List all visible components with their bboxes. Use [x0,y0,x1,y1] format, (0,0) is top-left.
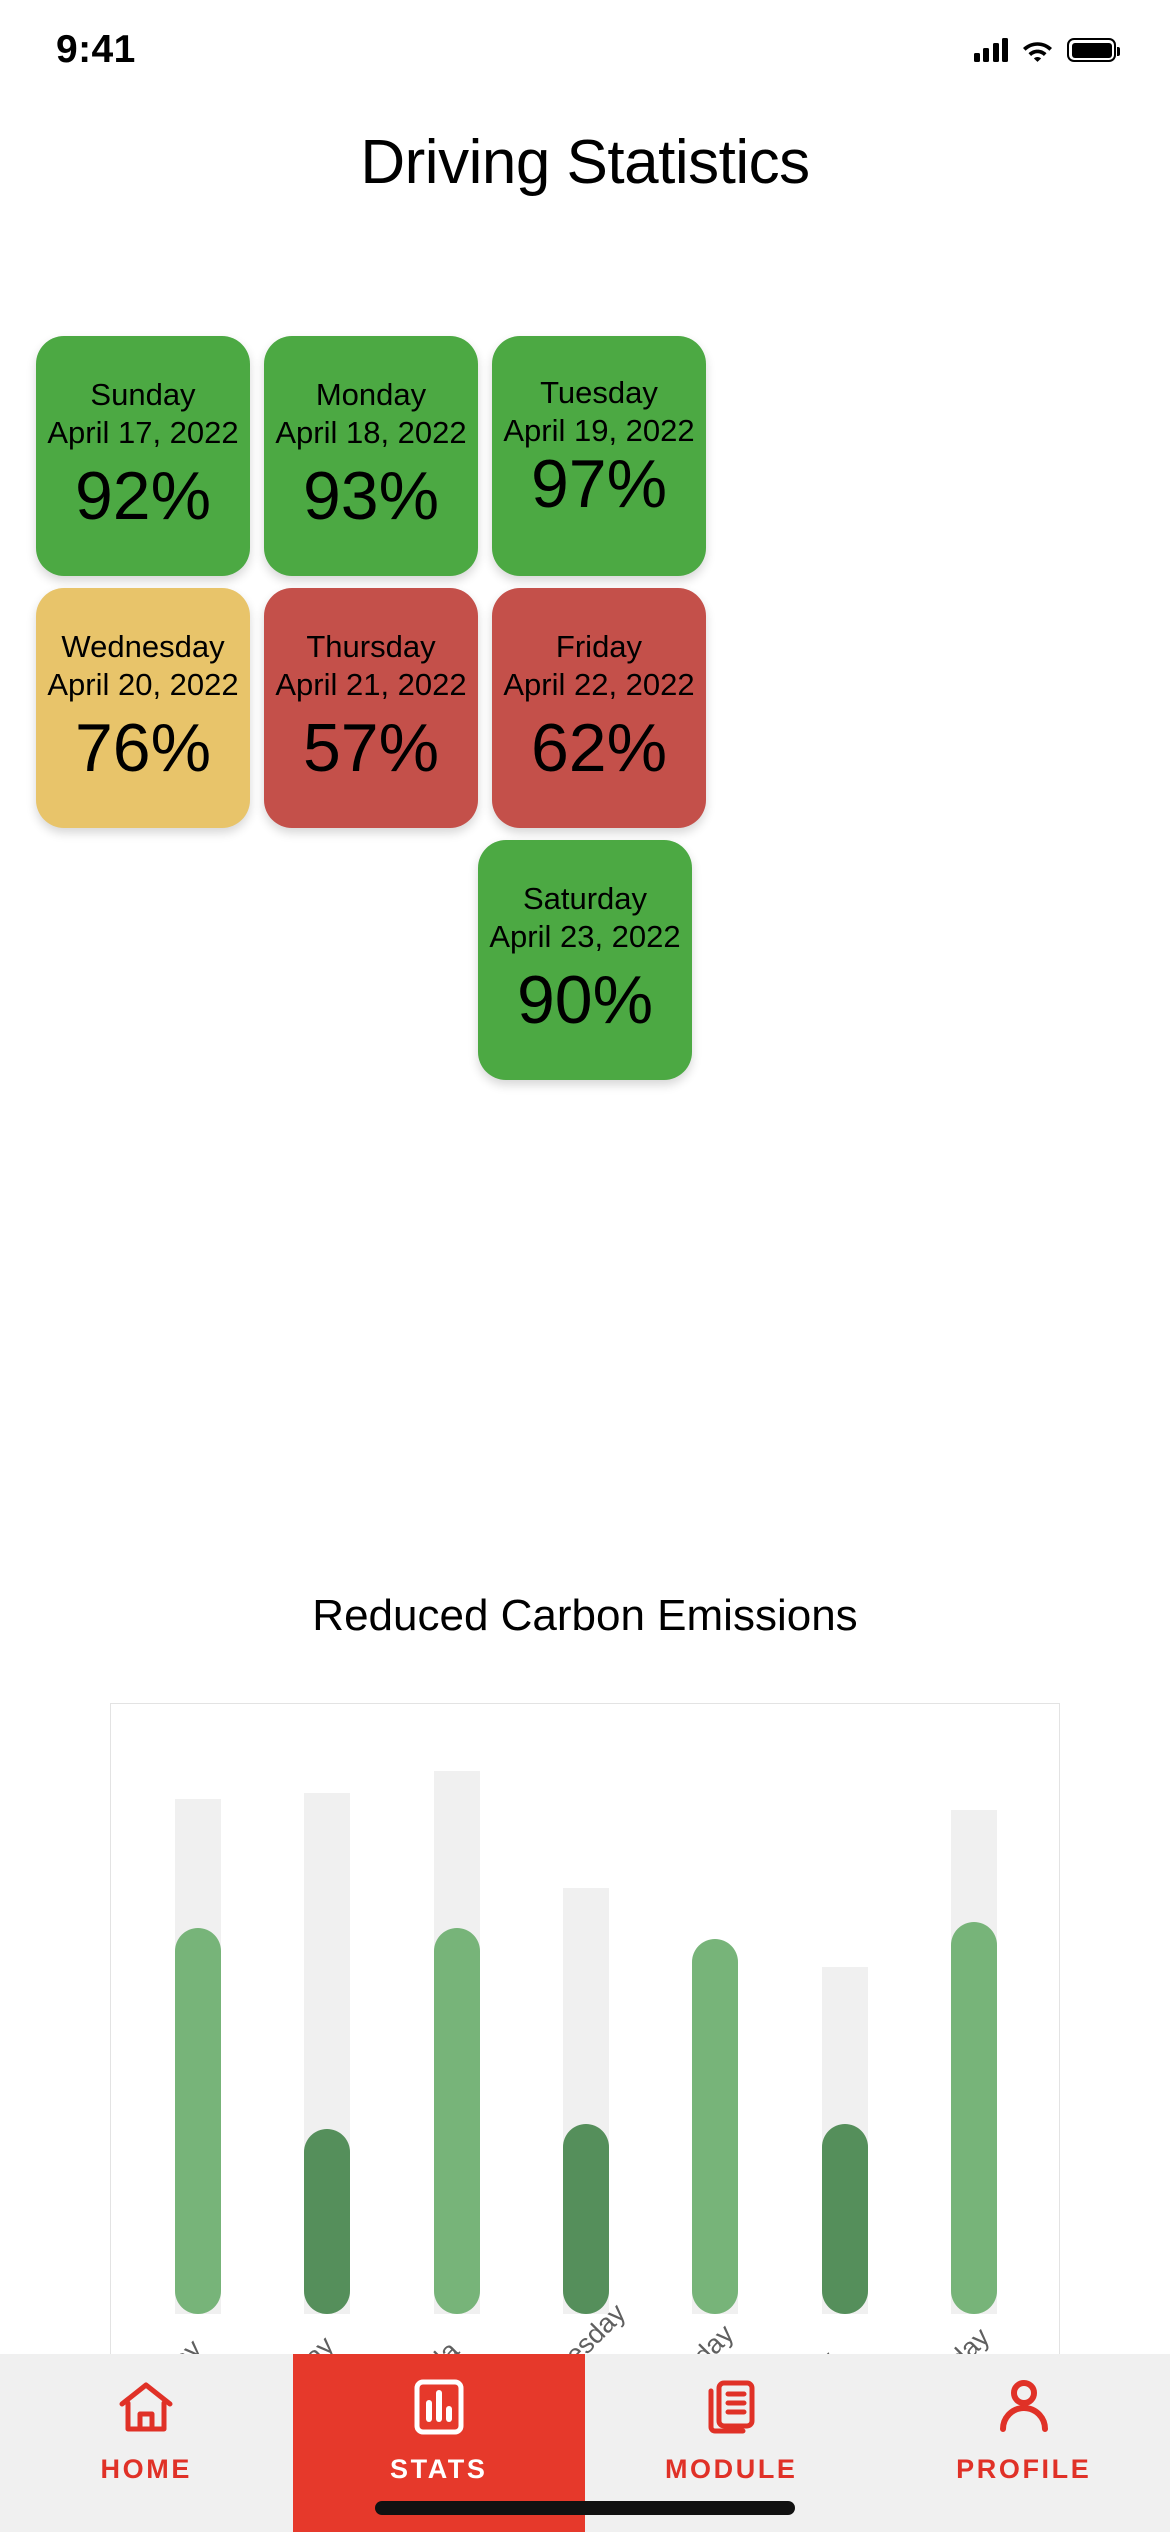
tab-module-label: MODULE [665,2454,798,2485]
day-card-percent: 93% [303,456,439,536]
day-card-date-label: April 20, 2022 [47,666,238,704]
status-bar: 9:41 [0,0,1170,100]
chart-bar-monday [299,1754,355,2314]
chart-bar-fill [951,1922,997,2314]
tab-profile[interactable]: PROFILE [878,2354,1170,2532]
chart-bar-fill [563,2124,609,2314]
document-icon [702,2378,760,2436]
day-card-monday[interactable]: Monday April 18, 2022 93% [264,336,478,576]
day-cards-row-2: Wednesday April 20, 2022 76% Thursday Ap… [36,588,1134,828]
day-card-percent: 76% [75,708,211,788]
person-icon [995,2378,1053,2436]
day-card-saturday[interactable]: Saturday April 23, 2022 90% [478,840,692,1080]
day-card-day-label: Wednesday [61,628,224,666]
day-card-day-label: Thursday [306,628,435,666]
tab-home-label: HOME [101,2454,192,2485]
status-indicators [974,38,1117,62]
chart-bar-thursday [687,1754,743,2314]
bar-chart-icon [410,2378,468,2436]
page-title: Driving Statistics [0,127,1170,198]
day-card-date-label: April 23, 2022 [489,918,680,956]
app-screen: 9:41 Driving Statistics Sunday April 17,… [0,0,1170,2532]
day-card-date-label: April 17, 2022 [47,414,238,452]
day-card-date-label: April 18, 2022 [275,414,466,452]
day-card-percent: 97% [531,444,667,524]
home-icon [117,2378,175,2436]
day-card-wednesday[interactable]: Wednesday April 20, 2022 76% [36,588,250,828]
day-card-day-label: Saturday [523,880,647,918]
day-card-day-label: Sunday [90,376,195,414]
status-time: 9:41 [56,28,136,72]
chart-bar-fill [692,1939,738,2314]
day-card-day-label: Friday [556,628,642,666]
day-card-percent: 62% [531,708,667,788]
chart-bar-saturday [946,1754,1002,2314]
day-cards-row-3: Saturday April 23, 2022 90% [36,840,1134,1080]
day-card-thursday[interactable]: Thursday April 21, 2022 57% [264,588,478,828]
chart-title: Reduced Carbon Emissions [0,1591,1170,1641]
chart-bar-fill [434,1928,480,2314]
day-card-date-label: April 21, 2022 [275,666,466,704]
day-card-friday[interactable]: Friday April 22, 2022 62% [492,588,706,828]
bottom-tab-bar: HOME STATS MODULE [0,2354,1170,2532]
cellular-signal-icon [974,38,1009,62]
day-cards-grid: Sunday April 17, 2022 92% Monday April 1… [36,336,1134,1092]
chart-bar-tuesda [429,1754,485,2314]
tab-stats-label: STATS [390,2454,488,2485]
chart-plot-area [111,1704,1061,2314]
day-card-percent: 90% [517,960,653,1040]
day-card-day-label: Monday [316,376,426,414]
chart-bar-wednesday [558,1754,614,2314]
chart-bar-friday [817,1754,873,2314]
tab-profile-label: PROFILE [956,2454,1091,2485]
day-cards-row-1: Sunday April 17, 2022 92% Monday April 1… [36,336,1134,576]
home-indicator[interactable] [375,2501,795,2515]
day-card-tuesday[interactable]: Tuesday April 19, 2022 97% [492,336,706,576]
chart-bar-sunday [170,1754,226,2314]
chart-bar-fill [822,2124,868,2314]
wifi-icon [1022,39,1053,62]
chart-bar-fill [304,2129,350,2314]
tab-home[interactable]: HOME [0,2354,293,2532]
carbon-emissions-bar-chart: SundayMondayTuesdaWednesdayThursdayFrida… [110,1703,1060,2418]
day-card-day-label: Tuesday [540,374,658,412]
day-card-percent: 57% [303,708,439,788]
battery-full-icon [1067,38,1116,62]
chart-bar-fill [175,1928,221,2314]
day-card-sunday[interactable]: Sunday April 17, 2022 92% [36,336,250,576]
day-card-percent: 92% [75,456,211,536]
day-card-date-label: April 22, 2022 [503,666,694,704]
